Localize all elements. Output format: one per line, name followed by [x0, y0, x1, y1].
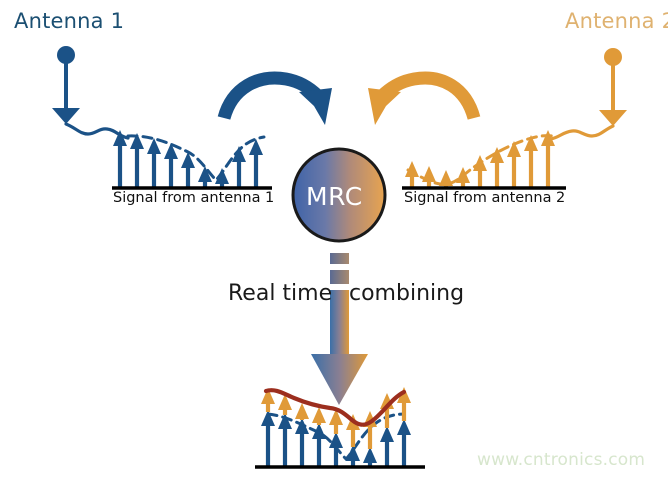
signal-from-antenna-1-label: Signal from antenna 1 — [113, 190, 274, 206]
blue-curved-arrow — [224, 78, 332, 125]
antenna-2-label: Antenna 2 — [565, 9, 668, 33]
antenna-2-group — [402, 48, 627, 188]
antenna-1-group — [52, 46, 272, 188]
mrc-label: MRC — [306, 182, 363, 211]
combining-label: combining — [349, 281, 464, 306]
orange-curved-arrow — [368, 78, 474, 125]
antenna-2-feedline — [551, 126, 613, 139]
antenna-1-bars — [113, 130, 263, 188]
signal-from-antenna-2-label: Signal from antenna 2 — [404, 190, 565, 206]
mrc-diagram-svg — [0, 0, 668, 479]
diagram-canvas: Antenna 1 Antenna 2 Signal from antenna … — [0, 0, 668, 479]
antenna-icon-left — [52, 46, 80, 124]
real-time-label: Real time — [228, 281, 332, 306]
antenna-1-label: Antenna 1 — [14, 9, 124, 33]
antenna-icon-right — [599, 48, 627, 126]
watermark: www.cntronics.com — [477, 450, 645, 470]
combining-down-arrow — [311, 253, 368, 405]
